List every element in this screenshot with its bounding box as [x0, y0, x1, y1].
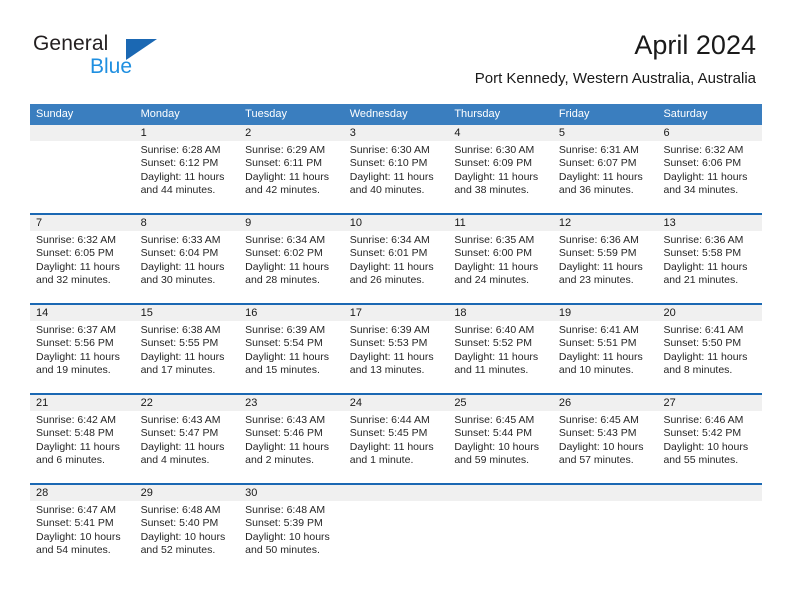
- weekday-header-thursday: Thursday: [448, 104, 553, 125]
- day-number: 1: [135, 125, 240, 141]
- calendar-day-cell[interactable]: 28Sunrise: 6:47 AMSunset: 5:41 PMDayligh…: [30, 485, 135, 573]
- calendar-day-cell[interactable]: 9Sunrise: 6:34 AMSunset: 6:02 PMDaylight…: [239, 215, 344, 303]
- daylight-duration-line1: Daylight: 10 hours: [141, 531, 235, 544]
- daylight-duration-line2: and 2 minutes.: [245, 454, 339, 467]
- sunrise-time: Sunrise: 6:44 AM: [350, 414, 444, 427]
- calendar-day-cell-empty: [553, 485, 658, 573]
- day-details: Sunrise: 6:48 AMSunset: 5:39 PMDaylight:…: [239, 501, 344, 558]
- sunset-time: Sunset: 6:09 PM: [454, 157, 548, 170]
- page-subtitle-location: Port Kennedy, Western Australia, Austral…: [475, 70, 756, 88]
- sunrise-time: Sunrise: 6:48 AM: [245, 504, 339, 517]
- day-details: Sunrise: 6:33 AMSunset: 6:04 PMDaylight:…: [135, 231, 240, 288]
- calendar-day-cell-empty: [344, 485, 449, 573]
- day-number: 26: [553, 395, 658, 411]
- sunset-time: Sunset: 5:42 PM: [663, 427, 757, 440]
- daylight-duration-line2: and 36 minutes.: [559, 184, 653, 197]
- calendar-week-row: 28Sunrise: 6:47 AMSunset: 5:41 PMDayligh…: [30, 483, 762, 573]
- calendar-day-cell[interactable]: 20Sunrise: 6:41 AMSunset: 5:50 PMDayligh…: [657, 305, 762, 393]
- calendar-day-cell[interactable]: 4Sunrise: 6:30 AMSunset: 6:09 PMDaylight…: [448, 125, 553, 213]
- daylight-duration-line2: and 19 minutes.: [36, 364, 130, 377]
- brand-name-general: General: [33, 33, 108, 55]
- daylight-duration-line2: and 10 minutes.: [559, 364, 653, 377]
- calendar-week-row: 1Sunrise: 6:28 AMSunset: 6:12 PMDaylight…: [30, 125, 762, 213]
- day-number: [344, 485, 449, 501]
- sunrise-time: Sunrise: 6:40 AM: [454, 324, 548, 337]
- day-details: Sunrise: 6:43 AMSunset: 5:47 PMDaylight:…: [135, 411, 240, 468]
- day-number: 16: [239, 305, 344, 321]
- sunrise-time: Sunrise: 6:43 AM: [141, 414, 235, 427]
- sunrise-time: Sunrise: 6:36 AM: [663, 234, 757, 247]
- sunrise-time: Sunrise: 6:30 AM: [454, 144, 548, 157]
- sunrise-time: Sunrise: 6:35 AM: [454, 234, 548, 247]
- daylight-duration-line1: Daylight: 11 hours: [454, 171, 548, 184]
- day-number: 14: [30, 305, 135, 321]
- day-number: 24: [344, 395, 449, 411]
- daylight-duration-line1: Daylight: 11 hours: [559, 261, 653, 274]
- calendar-weeks: 1Sunrise: 6:28 AMSunset: 6:12 PMDaylight…: [30, 125, 762, 573]
- sunrise-time: Sunrise: 6:48 AM: [141, 504, 235, 517]
- calendar-day-cell[interactable]: 3Sunrise: 6:30 AMSunset: 6:10 PMDaylight…: [344, 125, 449, 213]
- daylight-duration-line2: and 28 minutes.: [245, 274, 339, 287]
- day-details: Sunrise: 6:45 AMSunset: 5:43 PMDaylight:…: [553, 411, 658, 468]
- daylight-duration-line1: Daylight: 11 hours: [663, 351, 757, 364]
- day-number: 15: [135, 305, 240, 321]
- daylight-duration-line1: Daylight: 11 hours: [559, 171, 653, 184]
- daylight-duration-line2: and 6 minutes.: [36, 454, 130, 467]
- daylight-duration-line2: and 23 minutes.: [559, 274, 653, 287]
- daylight-duration-line2: and 44 minutes.: [141, 184, 235, 197]
- daylight-duration-line1: Daylight: 11 hours: [559, 351, 653, 364]
- day-details: Sunrise: 6:29 AMSunset: 6:11 PMDaylight:…: [239, 141, 344, 198]
- brand-name-blue: Blue: [90, 56, 132, 78]
- sunrise-time: Sunrise: 6:32 AM: [36, 234, 130, 247]
- calendar-day-cell[interactable]: 6Sunrise: 6:32 AMSunset: 6:06 PMDaylight…: [657, 125, 762, 213]
- daylight-duration-line1: Daylight: 11 hours: [245, 351, 339, 364]
- daylight-duration-line1: Daylight: 11 hours: [36, 351, 130, 364]
- sunset-time: Sunset: 6:07 PM: [559, 157, 653, 170]
- day-details: Sunrise: 6:45 AMSunset: 5:44 PMDaylight:…: [448, 411, 553, 468]
- daylight-duration-line2: and 24 minutes.: [454, 274, 548, 287]
- calendar-day-cell[interactable]: 11Sunrise: 6:35 AMSunset: 6:00 PMDayligh…: [448, 215, 553, 303]
- sunset-time: Sunset: 5:50 PM: [663, 337, 757, 350]
- sunset-time: Sunset: 5:59 PM: [559, 247, 653, 260]
- calendar-day-cell-empty: [448, 485, 553, 573]
- daylight-duration-line1: Daylight: 11 hours: [141, 171, 235, 184]
- day-number: 20: [657, 305, 762, 321]
- day-number: 22: [135, 395, 240, 411]
- day-details: Sunrise: 6:48 AMSunset: 5:40 PMDaylight:…: [135, 501, 240, 558]
- daylight-duration-line2: and 40 minutes.: [350, 184, 444, 197]
- calendar-day-cell[interactable]: 25Sunrise: 6:45 AMSunset: 5:44 PMDayligh…: [448, 395, 553, 483]
- daylight-duration-line1: Daylight: 11 hours: [663, 171, 757, 184]
- day-details: Sunrise: 6:36 AMSunset: 5:59 PMDaylight:…: [553, 231, 658, 288]
- daylight-duration-line1: Daylight: 11 hours: [245, 441, 339, 454]
- day-details: Sunrise: 6:39 AMSunset: 5:54 PMDaylight:…: [239, 321, 344, 378]
- daylight-duration-line2: and 50 minutes.: [245, 544, 339, 557]
- sunset-time: Sunset: 6:06 PM: [663, 157, 757, 170]
- day-details: Sunrise: 6:30 AMSunset: 6:09 PMDaylight:…: [448, 141, 553, 198]
- day-number: 28: [30, 485, 135, 501]
- daylight-duration-line2: and 55 minutes.: [663, 454, 757, 467]
- calendar-day-cell[interactable]: 2Sunrise: 6:29 AMSunset: 6:11 PMDaylight…: [239, 125, 344, 213]
- day-number: 10: [344, 215, 449, 231]
- daylight-duration-line2: and 54 minutes.: [36, 544, 130, 557]
- sunrise-time: Sunrise: 6:34 AM: [245, 234, 339, 247]
- sunset-time: Sunset: 5:52 PM: [454, 337, 548, 350]
- sunset-time: Sunset: 6:01 PM: [350, 247, 444, 260]
- brand-logo[interactable]: General Blue: [33, 33, 253, 81]
- day-number: 9: [239, 215, 344, 231]
- calendar-day-cell[interactable]: 30Sunrise: 6:48 AMSunset: 5:39 PMDayligh…: [239, 485, 344, 573]
- calendar-week-row: 21Sunrise: 6:42 AMSunset: 5:48 PMDayligh…: [30, 393, 762, 483]
- daylight-duration-line1: Daylight: 11 hours: [141, 441, 235, 454]
- sunrise-time: Sunrise: 6:39 AM: [245, 324, 339, 337]
- calendar-day-cell[interactable]: 21Sunrise: 6:42 AMSunset: 5:48 PMDayligh…: [30, 395, 135, 483]
- day-number: [657, 485, 762, 501]
- day-number: 18: [448, 305, 553, 321]
- sunrise-time: Sunrise: 6:45 AM: [454, 414, 548, 427]
- daylight-duration-line2: and 1 minute.: [350, 454, 444, 467]
- day-number: 11: [448, 215, 553, 231]
- sunrise-time: Sunrise: 6:30 AM: [350, 144, 444, 157]
- day-details: Sunrise: 6:28 AMSunset: 6:12 PMDaylight:…: [135, 141, 240, 198]
- calendar-page: General Blue April 2024 Port Kennedy, We…: [0, 0, 792, 612]
- day-details: Sunrise: 6:40 AMSunset: 5:52 PMDaylight:…: [448, 321, 553, 378]
- weekday-header-sunday: Sunday: [30, 104, 135, 125]
- day-details: Sunrise: 6:38 AMSunset: 5:55 PMDaylight:…: [135, 321, 240, 378]
- daylight-duration-line1: Daylight: 10 hours: [663, 441, 757, 454]
- day-number: 5: [553, 125, 658, 141]
- daylight-duration-line2: and 57 minutes.: [559, 454, 653, 467]
- day-number: 17: [344, 305, 449, 321]
- daylight-duration-line2: and 4 minutes.: [141, 454, 235, 467]
- daylight-duration-line1: Daylight: 11 hours: [245, 261, 339, 274]
- sunset-time: Sunset: 5:39 PM: [245, 517, 339, 530]
- daylight-duration-line1: Daylight: 11 hours: [454, 261, 548, 274]
- sunset-time: Sunset: 5:41 PM: [36, 517, 130, 530]
- day-details: Sunrise: 6:37 AMSunset: 5:56 PMDaylight:…: [30, 321, 135, 378]
- sunset-time: Sunset: 5:56 PM: [36, 337, 130, 350]
- calendar-day-cell[interactable]: 24Sunrise: 6:44 AMSunset: 5:45 PMDayligh…: [344, 395, 449, 483]
- day-details: Sunrise: 6:47 AMSunset: 5:41 PMDaylight:…: [30, 501, 135, 558]
- calendar-day-cell[interactable]: 8Sunrise: 6:33 AMSunset: 6:04 PMDaylight…: [135, 215, 240, 303]
- sunrise-time: Sunrise: 6:41 AM: [663, 324, 757, 337]
- sunset-time: Sunset: 6:12 PM: [141, 157, 235, 170]
- daylight-duration-line2: and 52 minutes.: [141, 544, 235, 557]
- day-details: Sunrise: 6:36 AMSunset: 5:58 PMDaylight:…: [657, 231, 762, 288]
- sunset-time: Sunset: 6:11 PM: [245, 157, 339, 170]
- calendar-week-row: 14Sunrise: 6:37 AMSunset: 5:56 PMDayligh…: [30, 303, 762, 393]
- calendar-day-cell[interactable]: 17Sunrise: 6:39 AMSunset: 5:53 PMDayligh…: [344, 305, 449, 393]
- calendar-day-cell[interactable]: 16Sunrise: 6:39 AMSunset: 5:54 PMDayligh…: [239, 305, 344, 393]
- weekday-header-row: SundayMondayTuesdayWednesdayThursdayFrid…: [30, 104, 762, 125]
- day-number: 30: [239, 485, 344, 501]
- sunset-time: Sunset: 6:04 PM: [141, 247, 235, 260]
- sunrise-time: Sunrise: 6:33 AM: [141, 234, 235, 247]
- day-number: 27: [657, 395, 762, 411]
- sunset-time: Sunset: 5:54 PM: [245, 337, 339, 350]
- sunrise-time: Sunrise: 6:37 AM: [36, 324, 130, 337]
- day-number: 7: [30, 215, 135, 231]
- sunrise-time: Sunrise: 6:43 AM: [245, 414, 339, 427]
- calendar-day-cell[interactable]: 1Sunrise: 6:28 AMSunset: 6:12 PMDaylight…: [135, 125, 240, 213]
- day-details: Sunrise: 6:43 AMSunset: 5:46 PMDaylight:…: [239, 411, 344, 468]
- day-number: 23: [239, 395, 344, 411]
- sunrise-time: Sunrise: 6:42 AM: [36, 414, 130, 427]
- weekday-header-monday: Monday: [135, 104, 240, 125]
- calendar-day-cell[interactable]: 18Sunrise: 6:40 AMSunset: 5:52 PMDayligh…: [448, 305, 553, 393]
- page-header: General Blue April 2024 Port Kennedy, We…: [0, 0, 792, 103]
- daylight-duration-line1: Daylight: 11 hours: [36, 261, 130, 274]
- day-details: Sunrise: 6:30 AMSunset: 6:10 PMDaylight:…: [344, 141, 449, 198]
- daylight-duration-line2: and 30 minutes.: [141, 274, 235, 287]
- day-number: 6: [657, 125, 762, 141]
- page-title: April 2024: [475, 29, 756, 61]
- day-details: Sunrise: 6:42 AMSunset: 5:48 PMDaylight:…: [30, 411, 135, 468]
- calendar-grid: SundayMondayTuesdayWednesdayThursdayFrid…: [30, 104, 762, 573]
- sunset-time: Sunset: 5:51 PM: [559, 337, 653, 350]
- daylight-duration-line2: and 59 minutes.: [454, 454, 548, 467]
- sunset-time: Sunset: 5:48 PM: [36, 427, 130, 440]
- daylight-duration-line1: Daylight: 11 hours: [141, 261, 235, 274]
- day-details: Sunrise: 6:31 AMSunset: 6:07 PMDaylight:…: [553, 141, 658, 198]
- calendar-day-cell[interactable]: 5Sunrise: 6:31 AMSunset: 6:07 PMDaylight…: [553, 125, 658, 213]
- calendar-day-cell[interactable]: 10Sunrise: 6:34 AMSunset: 6:01 PMDayligh…: [344, 215, 449, 303]
- sunrise-time: Sunrise: 6:36 AM: [559, 234, 653, 247]
- daylight-duration-line1: Daylight: 11 hours: [454, 351, 548, 364]
- sunset-time: Sunset: 6:02 PM: [245, 247, 339, 260]
- weekday-header-wednesday: Wednesday: [344, 104, 449, 125]
- day-details: Sunrise: 6:34 AMSunset: 6:01 PMDaylight:…: [344, 231, 449, 288]
- day-number: 13: [657, 215, 762, 231]
- sunrise-time: Sunrise: 6:38 AM: [141, 324, 235, 337]
- day-details: Sunrise: 6:41 AMSunset: 5:51 PMDaylight:…: [553, 321, 658, 378]
- sunset-time: Sunset: 5:53 PM: [350, 337, 444, 350]
- calendar-day-cell[interactable]: 14Sunrise: 6:37 AMSunset: 5:56 PMDayligh…: [30, 305, 135, 393]
- day-number: [448, 485, 553, 501]
- sunrise-time: Sunrise: 6:29 AM: [245, 144, 339, 157]
- day-details: Sunrise: 6:39 AMSunset: 5:53 PMDaylight:…: [344, 321, 449, 378]
- calendar-day-cell[interactable]: 7Sunrise: 6:32 AMSunset: 6:05 PMDaylight…: [30, 215, 135, 303]
- calendar-day-cell-empty: [30, 125, 135, 213]
- calendar-day-cell-empty: [657, 485, 762, 573]
- daylight-duration-line1: Daylight: 10 hours: [559, 441, 653, 454]
- day-number: 12: [553, 215, 658, 231]
- daylight-duration-line1: Daylight: 11 hours: [36, 441, 130, 454]
- sunset-time: Sunset: 5:44 PM: [454, 427, 548, 440]
- day-number: 3: [344, 125, 449, 141]
- daylight-duration-line2: and 21 minutes.: [663, 274, 757, 287]
- day-number: 21: [30, 395, 135, 411]
- calendar-day-cell[interactable]: 23Sunrise: 6:43 AMSunset: 5:46 PMDayligh…: [239, 395, 344, 483]
- sunset-time: Sunset: 5:46 PM: [245, 427, 339, 440]
- daylight-duration-line2: and 32 minutes.: [36, 274, 130, 287]
- daylight-duration-line2: and 34 minutes.: [663, 184, 757, 197]
- sunset-time: Sunset: 5:45 PM: [350, 427, 444, 440]
- sunrise-time: Sunrise: 6:45 AM: [559, 414, 653, 427]
- daylight-duration-line2: and 11 minutes.: [454, 364, 548, 377]
- calendar-day-cell[interactable]: 12Sunrise: 6:36 AMSunset: 5:59 PMDayligh…: [553, 215, 658, 303]
- daylight-duration-line1: Daylight: 10 hours: [245, 531, 339, 544]
- sunset-time: Sunset: 5:43 PM: [559, 427, 653, 440]
- sunrise-time: Sunrise: 6:46 AM: [663, 414, 757, 427]
- calendar-day-cell[interactable]: 26Sunrise: 6:45 AMSunset: 5:43 PMDayligh…: [553, 395, 658, 483]
- daylight-duration-line2: and 15 minutes.: [245, 364, 339, 377]
- sunrise-time: Sunrise: 6:41 AM: [559, 324, 653, 337]
- day-details: Sunrise: 6:44 AMSunset: 5:45 PMDaylight:…: [344, 411, 449, 468]
- daylight-duration-line2: and 8 minutes.: [663, 364, 757, 377]
- sunrise-time: Sunrise: 6:34 AM: [350, 234, 444, 247]
- day-number: [553, 485, 658, 501]
- daylight-duration-line1: Daylight: 11 hours: [245, 171, 339, 184]
- weekday-header-tuesday: Tuesday: [239, 104, 344, 125]
- day-number: 25: [448, 395, 553, 411]
- day-number: 8: [135, 215, 240, 231]
- day-number: 4: [448, 125, 553, 141]
- day-details: Sunrise: 6:34 AMSunset: 6:02 PMDaylight:…: [239, 231, 344, 288]
- sunrise-time: Sunrise: 6:39 AM: [350, 324, 444, 337]
- title-block: April 2024 Port Kennedy, Western Austral…: [475, 29, 756, 88]
- day-details: Sunrise: 6:32 AMSunset: 6:06 PMDaylight:…: [657, 141, 762, 198]
- daylight-duration-line1: Daylight: 10 hours: [36, 531, 130, 544]
- day-number: [30, 125, 135, 141]
- day-details: Sunrise: 6:46 AMSunset: 5:42 PMDaylight:…: [657, 411, 762, 468]
- daylight-duration-line2: and 38 minutes.: [454, 184, 548, 197]
- calendar-day-cell[interactable]: 22Sunrise: 6:43 AMSunset: 5:47 PMDayligh…: [135, 395, 240, 483]
- day-number: 19: [553, 305, 658, 321]
- daylight-duration-line2: and 26 minutes.: [350, 274, 444, 287]
- day-number: 2: [239, 125, 344, 141]
- daylight-duration-line1: Daylight: 10 hours: [454, 441, 548, 454]
- day-details: Sunrise: 6:32 AMSunset: 6:05 PMDaylight:…: [30, 231, 135, 288]
- daylight-duration-line1: Daylight: 11 hours: [350, 171, 444, 184]
- day-details: Sunrise: 6:35 AMSunset: 6:00 PMDaylight:…: [448, 231, 553, 288]
- sunrise-time: Sunrise: 6:28 AM: [141, 144, 235, 157]
- daylight-duration-line1: Daylight: 11 hours: [350, 261, 444, 274]
- weekday-header-friday: Friday: [553, 104, 658, 125]
- calendar-day-cell[interactable]: 19Sunrise: 6:41 AMSunset: 5:51 PMDayligh…: [553, 305, 658, 393]
- sunset-time: Sunset: 6:00 PM: [454, 247, 548, 260]
- calendar-day-cell[interactable]: 27Sunrise: 6:46 AMSunset: 5:42 PMDayligh…: [657, 395, 762, 483]
- daylight-duration-line1: Daylight: 11 hours: [350, 441, 444, 454]
- sunrise-time: Sunrise: 6:47 AM: [36, 504, 130, 517]
- calendar-day-cell[interactable]: 29Sunrise: 6:48 AMSunset: 5:40 PMDayligh…: [135, 485, 240, 573]
- sunset-time: Sunset: 5:58 PM: [663, 247, 757, 260]
- weekday-header-saturday: Saturday: [657, 104, 762, 125]
- daylight-duration-line1: Daylight: 11 hours: [141, 351, 235, 364]
- daylight-duration-line2: and 17 minutes.: [141, 364, 235, 377]
- sunrise-time: Sunrise: 6:31 AM: [559, 144, 653, 157]
- day-details: Sunrise: 6:41 AMSunset: 5:50 PMDaylight:…: [657, 321, 762, 378]
- day-number: 29: [135, 485, 240, 501]
- calendar-week-row: 7Sunrise: 6:32 AMSunset: 6:05 PMDaylight…: [30, 213, 762, 303]
- daylight-duration-line1: Daylight: 11 hours: [663, 261, 757, 274]
- daylight-duration-line1: Daylight: 11 hours: [350, 351, 444, 364]
- calendar-day-cell[interactable]: 15Sunrise: 6:38 AMSunset: 5:55 PMDayligh…: [135, 305, 240, 393]
- calendar-day-cell[interactable]: 13Sunrise: 6:36 AMSunset: 5:58 PMDayligh…: [657, 215, 762, 303]
- sunrise-time: Sunrise: 6:32 AM: [663, 144, 757, 157]
- daylight-duration-line2: and 13 minutes.: [350, 364, 444, 377]
- sunset-time: Sunset: 5:47 PM: [141, 427, 235, 440]
- sunset-time: Sunset: 5:40 PM: [141, 517, 235, 530]
- sunset-time: Sunset: 6:10 PM: [350, 157, 444, 170]
- sunset-time: Sunset: 6:05 PM: [36, 247, 130, 260]
- sunset-time: Sunset: 5:55 PM: [141, 337, 235, 350]
- daylight-duration-line2: and 42 minutes.: [245, 184, 339, 197]
